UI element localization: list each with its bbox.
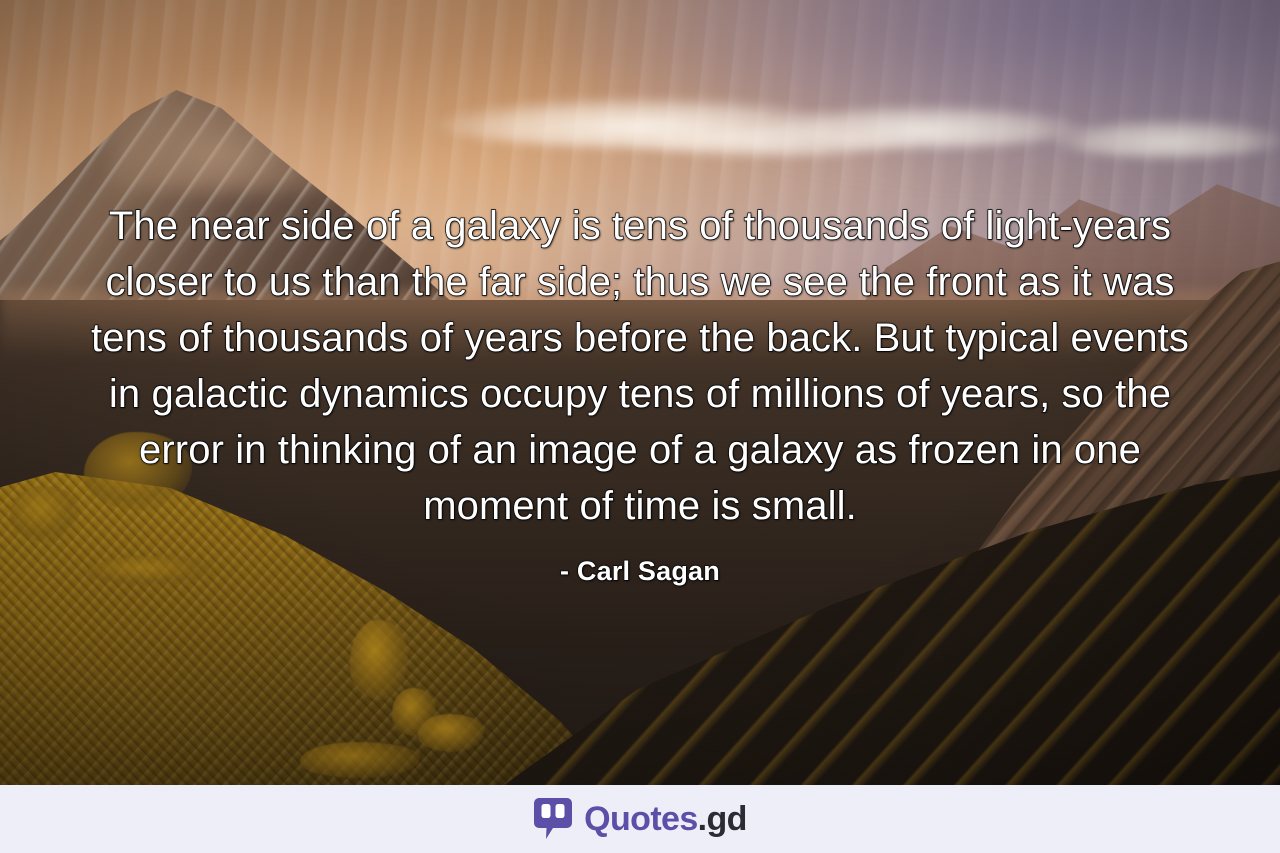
- quote-bubble-icon: [533, 797, 573, 841]
- footer-bar: Quotes.gd: [0, 785, 1280, 853]
- brand-logo[interactable]: Quotes.gd: [533, 797, 747, 841]
- brand-name: Quotes: [584, 800, 698, 838]
- quote-author: - Carl Sagan: [560, 556, 720, 587]
- quote-card: The near side of a galaxy is tens of tho…: [0, 0, 1280, 853]
- quote-text: The near side of a galaxy is tens of tho…: [90, 198, 1190, 534]
- brand-wordmark: Quotes.gd: [584, 802, 747, 836]
- brand-tld: .gd: [698, 800, 747, 838]
- quote-overlay: The near side of a galaxy is tens of tho…: [0, 0, 1280, 785]
